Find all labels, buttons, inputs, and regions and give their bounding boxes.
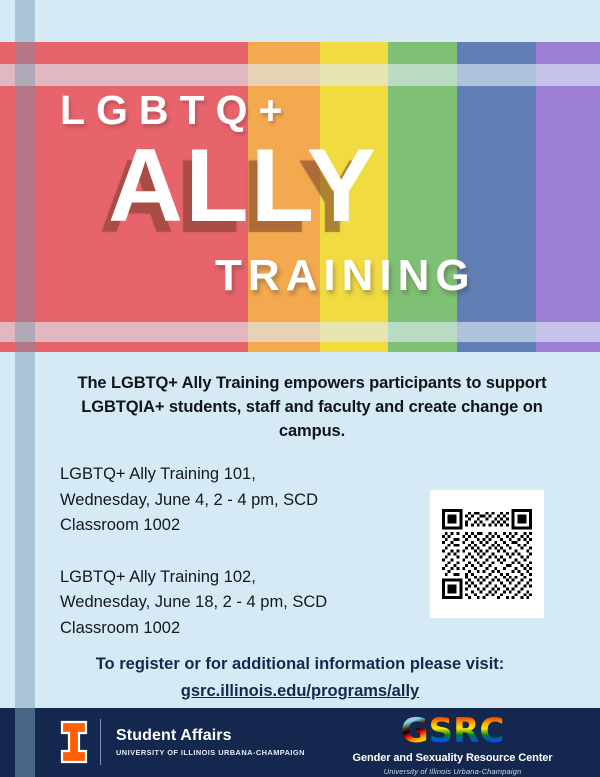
lede-paragraph: The LGBTQ+ Ally Training empowers partic… (52, 372, 572, 444)
block-i-icon (60, 720, 88, 764)
gsrc-logo: G S R C Gender and Sexuality Resource Ce… (345, 714, 560, 776)
qr-code-icon (439, 506, 535, 602)
register-prompt: To register or for additional informatio… (96, 655, 505, 673)
session-item: LGBTQ+ Ally Training 102, Wednesday, Jun… (60, 565, 420, 642)
session-list: LGBTQ+ Ally Training 101, Wednesday, Jun… (60, 462, 420, 641)
session-location: Classroom 1002 (60, 513, 420, 539)
gsrc-letter-r: R (453, 714, 479, 748)
gsrc-name: Gender and Sexuality Resource Center (345, 752, 560, 764)
vertical-accent-bar (15, 0, 35, 777)
gsrc-letter-g: G (401, 714, 429, 748)
gsrc-subtitle: University of Illinois Urbana-Champaign (345, 767, 560, 776)
title-lgbtq: LGBTQ+ (60, 90, 293, 131)
title-ally: ALLY (108, 134, 378, 238)
title-training: TRAINING (215, 254, 476, 298)
gsrc-letter-c: C (479, 714, 504, 748)
student-affairs-title: Student Affairs (116, 727, 305, 745)
footer: Student Affairs UNIVERSITY OF ILLINOIS U… (0, 708, 600, 777)
register-url-link[interactable]: gsrc.illinois.edu/programs/ally (40, 679, 560, 704)
logo-divider (100, 719, 101, 765)
gsrc-acronym: G S R C (345, 714, 560, 748)
session-item: LGBTQ+ Ally Training 101, Wednesday, Jun… (60, 462, 420, 539)
register-cta: To register or for additional informatio… (40, 652, 560, 704)
qr-code[interactable] (430, 490, 544, 618)
poster: LGBTQ+ ALLY TRAINING The LGBTQ+ Ally Tra… (0, 0, 600, 777)
session-datetime: Wednesday, June 18, 2 - 4 pm, SCD (60, 590, 420, 616)
headline-group: LGBTQ+ ALLY TRAINING (0, 42, 600, 352)
gsrc-letter-s: S (429, 714, 454, 748)
session-title: LGBTQ+ Ally Training 101, (60, 462, 420, 488)
student-affairs-logo: Student Affairs UNIVERSITY OF ILLINOIS U… (60, 719, 305, 765)
student-affairs-text: Student Affairs UNIVERSITY OF ILLINOIS U… (113, 727, 305, 757)
session-location: Classroom 1002 (60, 616, 420, 642)
session-datetime: Wednesday, June 4, 2 - 4 pm, SCD (60, 488, 420, 514)
student-affairs-subtitle: UNIVERSITY OF ILLINOIS URBANA-CHAMPAIGN (116, 748, 305, 757)
session-title: LGBTQ+ Ally Training 102, (60, 565, 420, 591)
